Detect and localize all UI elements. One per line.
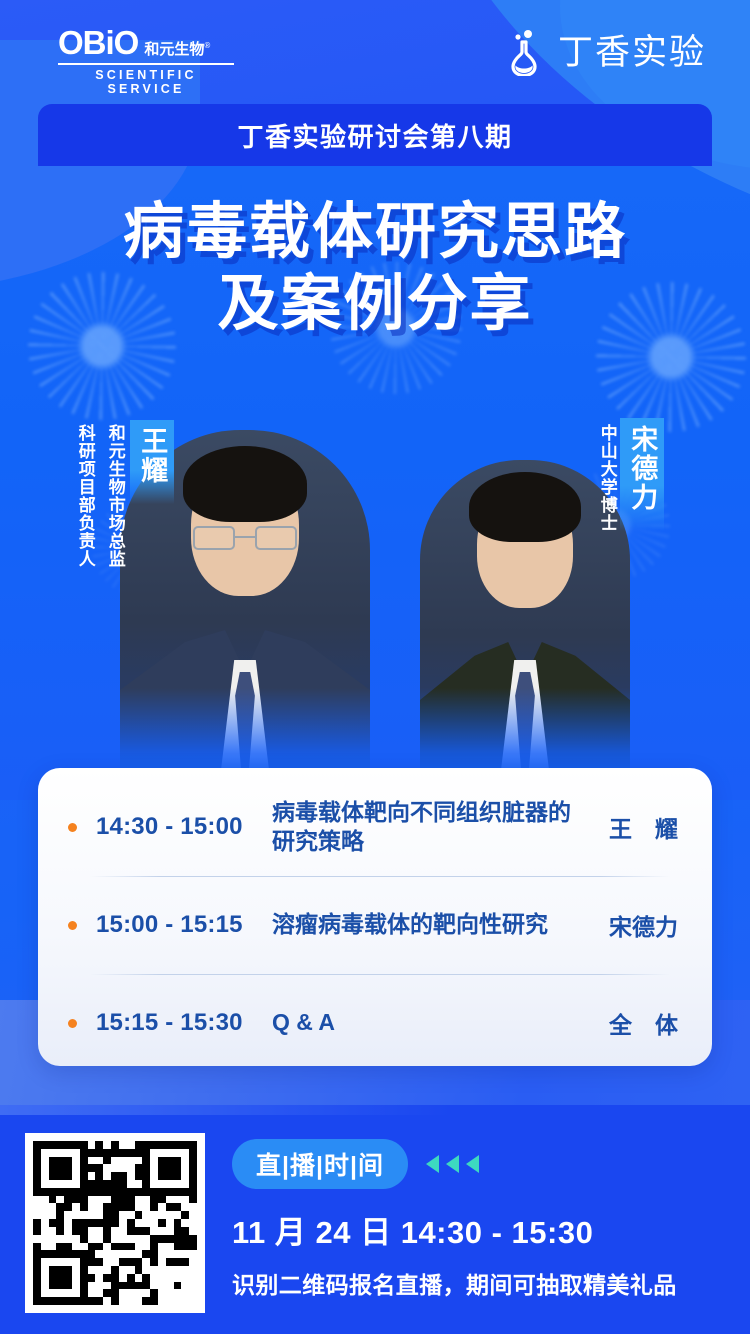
- series-banner: 丁香实验研讨会第八期: [38, 104, 712, 166]
- live-info: 直|播|时|间 11 月 24 日 14:30 - 15:30 识别二维码报名直…: [232, 1139, 736, 1300]
- live-time-badge: 直|播|时|间: [232, 1139, 408, 1189]
- schedule-topic: 溶瘤病毒载体的靶向性研究: [272, 910, 592, 939]
- poster-root: OBiO 和元生物® SCIENTIFIC SERVICE 丁香实验 丁香实验研…: [0, 0, 750, 1334]
- glasses-icon: [193, 526, 297, 550]
- schedule-speaker: 全 体: [592, 1006, 678, 1040]
- qr-code[interactable]: [25, 1133, 205, 1313]
- logo-divider: [58, 63, 234, 65]
- speaker-title-wang-yao-line2: 科研项目部负责人: [74, 424, 96, 568]
- speaker-name-badge-song-deli: 宋德力: [620, 418, 664, 531]
- main-title-line-2: 及案例分享: [0, 268, 750, 340]
- live-note-text: 识别二维码报名直播，期间可抽取精美礼品: [232, 1266, 736, 1300]
- header: OBiO 和元生物® SCIENTIFIC SERVICE 丁香实验: [0, 0, 750, 104]
- schedule-speaker: 宋德力: [592, 908, 678, 942]
- hair: [183, 446, 307, 522]
- schedule-speaker: 王 耀: [592, 810, 678, 844]
- schedule-topic: Q & A: [272, 1008, 592, 1037]
- flask-icon: [502, 28, 546, 76]
- schedule-row: 15:00 - 15:15 溶瘤病毒载体的靶向性研究 宋德力: [68, 876, 678, 974]
- speaker-name-vertical: 宋德力: [628, 425, 657, 512]
- schedule-row: 14:30 - 15:00 病毒载体靶向不同组织脏器的研究策略 王 耀: [68, 778, 678, 876]
- live-date-text: 11 月 24 日 14:30 - 15:30: [232, 1207, 736, 1252]
- speaker-name-vertical: 王耀: [138, 427, 167, 485]
- schedule-card: 14:30 - 15:00 病毒载体靶向不同组织脏器的研究策略 王 耀 15:0…: [38, 768, 712, 1066]
- bullet-dot-icon: [68, 1019, 77, 1028]
- series-subtitle: 丁香实验研讨会第八期: [237, 117, 512, 154]
- main-title: 病毒载体研究思路 及案例分享: [0, 196, 750, 340]
- speaker-name-badge-wang-yao: 王耀: [130, 420, 174, 504]
- registered-mark-icon: ®: [204, 41, 210, 50]
- dingxiang-wordmark: 丁香实验: [558, 35, 706, 70]
- schedule-topic: 病毒载体靶向不同组织脏器的研究策略: [272, 798, 592, 857]
- schedule-time: 14:30 - 15:00: [96, 813, 272, 841]
- photo-fade: [420, 688, 630, 780]
- qr-code-grid: [33, 1141, 197, 1305]
- photo-fade: [120, 688, 370, 780]
- main-title-line-1: 病毒载体研究思路: [0, 196, 750, 268]
- bullet-dot-icon: [68, 921, 77, 930]
- obio-wordmark: OBiO: [58, 26, 138, 59]
- speaker-title-wang-yao-line1: 和元生物市场总监: [104, 424, 126, 568]
- dingxiang-logo: 丁香实验: [502, 28, 706, 76]
- speaker-title-song-deli-line1: 中山大学博士: [596, 424, 618, 532]
- schedule-time: 15:15 - 15:30: [96, 1009, 272, 1037]
- bullet-dot-icon: [68, 823, 77, 832]
- obio-logo: OBiO 和元生物® SCIENTIFIC SERVICE: [58, 26, 234, 96]
- schedule-row: 15:15 - 15:30 Q & A 全 体: [68, 974, 678, 1072]
- obio-chinese-name: 和元生物®: [144, 42, 210, 59]
- hair: [469, 472, 581, 542]
- obio-tagline: SCIENTIFIC SERVICE: [58, 68, 234, 96]
- bottom-section: 直|播|时|间 11 月 24 日 14:30 - 15:30 识别二维码报名直…: [0, 1105, 750, 1334]
- triangle-arrows-icon: [426, 1155, 479, 1173]
- schedule-time: 15:00 - 15:15: [96, 911, 272, 939]
